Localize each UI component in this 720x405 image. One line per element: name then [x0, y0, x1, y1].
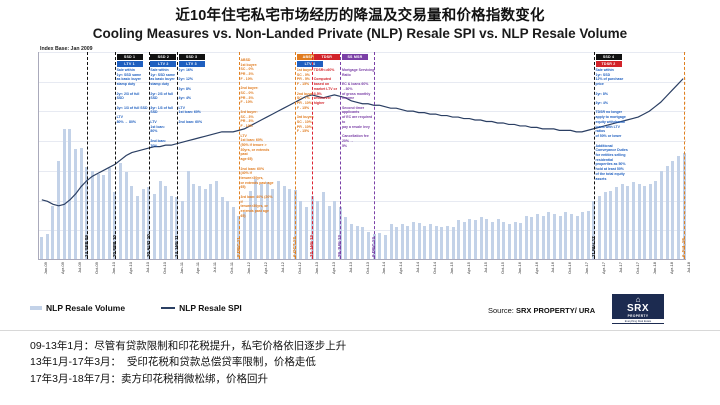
footnote-line: 17年3月-18年7月：卖方印花税稍微松绑，价格回升: [30, 371, 690, 387]
srx-logo-property: PROPERTY: [612, 314, 664, 318]
srx-logo-text: SRX: [612, 304, 664, 314]
x-axis-tick: Oct-12: [297, 262, 302, 274]
x-axis-tick: Apr-09: [60, 262, 65, 274]
x-axis-tick: Oct-09: [94, 262, 99, 274]
event-annotation-text: 1yr: 16% 2yr: 12% 3yr: 8% 4yr: 4% LTV 1s…: [179, 68, 213, 125]
event-badge-group: SSD 4TDSR 2: [596, 54, 622, 68]
page-title-english: Cooling Measures vs. Non-Landed Private …: [0, 26, 720, 41]
x-axis-tick: Jan-17: [584, 262, 589, 274]
x-axis-tick: Apr-13: [331, 262, 336, 274]
event-badge-group: TDSR: [314, 54, 340, 61]
event-badge: SSD 2: [150, 54, 176, 60]
srx-logo-tagline: Everything Real Estate: [612, 319, 664, 323]
source-prefix: Source:: [488, 306, 516, 315]
x-axis-tick: Jul-11: [212, 262, 217, 273]
x-axis-tick: Jul-16: [550, 262, 555, 273]
x-axis-tick: Jan-10: [111, 262, 116, 274]
event-badge-group: SSD 2LTV 2: [150, 54, 176, 68]
x-axis-tick: Jul-14: [415, 262, 420, 273]
event-date-label: 29 JUN 13: [337, 235, 342, 257]
event-badge: LTV 3: [179, 61, 205, 67]
x-axis-tick: Apr-14: [398, 262, 403, 274]
legend-label-volume: NLP Resale Volume: [46, 303, 125, 313]
event-badge: SSD 4: [596, 54, 622, 60]
x-axis-tick: Jul-15: [483, 262, 488, 273]
footer-divider: [0, 330, 720, 331]
srx-property-logo: ⌂ SRX PROPERTY Everything Real Estate: [612, 294, 664, 324]
footnote-list: 09-13年1月：尽管有贷款限制和印花税提升，私宅价格依旧逐步上升 13年1月-…: [30, 338, 690, 387]
x-axis-tick: Apr-17: [601, 262, 606, 274]
event-badge: TDSR: [314, 54, 340, 60]
event-date-label: 14 JAN 11: [174, 235, 179, 257]
x-axis-tick: Jan-14: [381, 262, 386, 274]
event-badge: SSD 3: [179, 54, 205, 60]
event-marker-line: [87, 52, 88, 259]
event-date-label: 9 DEC 13: [371, 237, 376, 257]
cooling-measures-chart: 20018016014012010080602,5002,0001,5001,0…: [38, 52, 686, 260]
event-marker-line: [374, 52, 375, 259]
x-axis-tick: Apr-16: [534, 262, 539, 274]
event-annotation-text: Sale within 1yr: SSD same as basic buyer…: [117, 68, 151, 125]
x-axis-tick: Oct-16: [567, 262, 572, 274]
chart-legend: NLP Resale Volume NLP Resale SPI: [30, 303, 242, 313]
event-badge: LTV 1: [117, 61, 143, 67]
x-axis-tick: Apr-11: [195, 262, 200, 274]
x-axis-tick: Apr-12: [263, 262, 268, 274]
legend-label-spi: NLP Resale SPI: [179, 303, 242, 313]
event-date-label: 6 OCT 12: [292, 237, 297, 257]
event-date-label: 8 DEC 11: [236, 237, 241, 257]
event-badge-group: SS MSR: [342, 54, 368, 61]
source-credit: Source: SRX PROPERTY/ URA: [488, 306, 595, 315]
event-badge: LTV 4: [297, 61, 323, 67]
x-axis-tick: Jan-09: [43, 262, 48, 274]
legend-item-spi: NLP Resale SPI: [161, 303, 242, 313]
event-badge: SS MSR: [342, 54, 368, 60]
x-axis-tick: Jul-18: [686, 262, 691, 273]
event-badge: LTV 2: [150, 61, 176, 67]
event-date-label: 12 JAN 13: [309, 235, 314, 257]
event-annotation-text: ABSD 1st buyer: SC - 0% PR - 3% F - 10% …: [241, 58, 275, 218]
x-axis-tick: Apr-18: [669, 262, 674, 274]
footnote-line: 09-13年1月：尽管有贷款限制和印花税提升，私宅价格依旧逐步上升: [30, 338, 690, 354]
event-badge-group: SSD 3LTV 3: [179, 54, 205, 68]
x-axis-tick: Oct-13: [365, 262, 370, 274]
x-axis-tick: Oct-15: [500, 262, 505, 274]
x-axis-tick: Oct-11: [229, 262, 234, 274]
x-axis-tick: Jan-11: [179, 262, 184, 274]
event-annotation-text: Sale within 1yr: SSD 12% of purchase pri…: [596, 68, 630, 181]
x-axis-tick: Jan-12: [246, 262, 251, 274]
x-axis-tick: Oct-10: [162, 262, 167, 274]
page-title-chinese: 近10年住宅私宅市场经历的降温及交易量和价格指数变化: [0, 4, 720, 25]
slide-root: 近10年住宅私宅市场经历的降温及交易量和价格指数变化 Cooling Measu…: [0, 0, 720, 405]
event-date-label: 14 SEP 09: [84, 235, 89, 257]
x-axis-tick: Jul-17: [618, 262, 623, 273]
source-name: SRX PROPERTY/ URA: [516, 306, 595, 315]
x-axis-tick: Apr-10: [128, 262, 133, 274]
event-date-label: 20 FEB 10: [112, 235, 117, 257]
x-axis-tick: Apr-15: [466, 262, 471, 274]
legend-item-volume: NLP Resale Volume: [30, 303, 125, 313]
volume-swatch-icon: [30, 306, 42, 310]
x-axis-tick: Jan-16: [517, 262, 522, 274]
event-date-label: 30 AUG 10: [146, 234, 151, 257]
event-badge: SSD 1: [117, 54, 143, 60]
event-annotation-text: Mortgage Servicing Ratio EC & loans 60% …: [342, 68, 376, 148]
x-axis-tick: Jul-10: [145, 262, 150, 273]
footnote-line: 13年1月-17年3月： 受印花税和贷款总偿贷率限制，价格走低: [30, 354, 690, 370]
x-axis-tick: Jul-12: [280, 262, 285, 273]
x-axis-tick: Jan-15: [449, 262, 454, 274]
x-axis-tick: Jan-13: [314, 262, 319, 274]
x-axis-tick: Jan-18: [652, 262, 657, 274]
chart-plot-area: 20018016014012010080602,5002,0001,5001,0…: [39, 52, 686, 259]
x-axis-tick: Jul-09: [77, 262, 82, 273]
x-axis-tick: Oct-17: [635, 262, 640, 274]
event-date-label: 11 Mar 17: [591, 236, 596, 257]
event-badge-group: SSD 1LTV 1: [117, 54, 143, 68]
x-axis-tick: Oct-14: [432, 262, 437, 274]
spi-swatch-icon: [161, 307, 175, 309]
x-axis-tick: Jul-13: [348, 262, 353, 273]
event-badge: TDSR 2: [596, 61, 622, 67]
